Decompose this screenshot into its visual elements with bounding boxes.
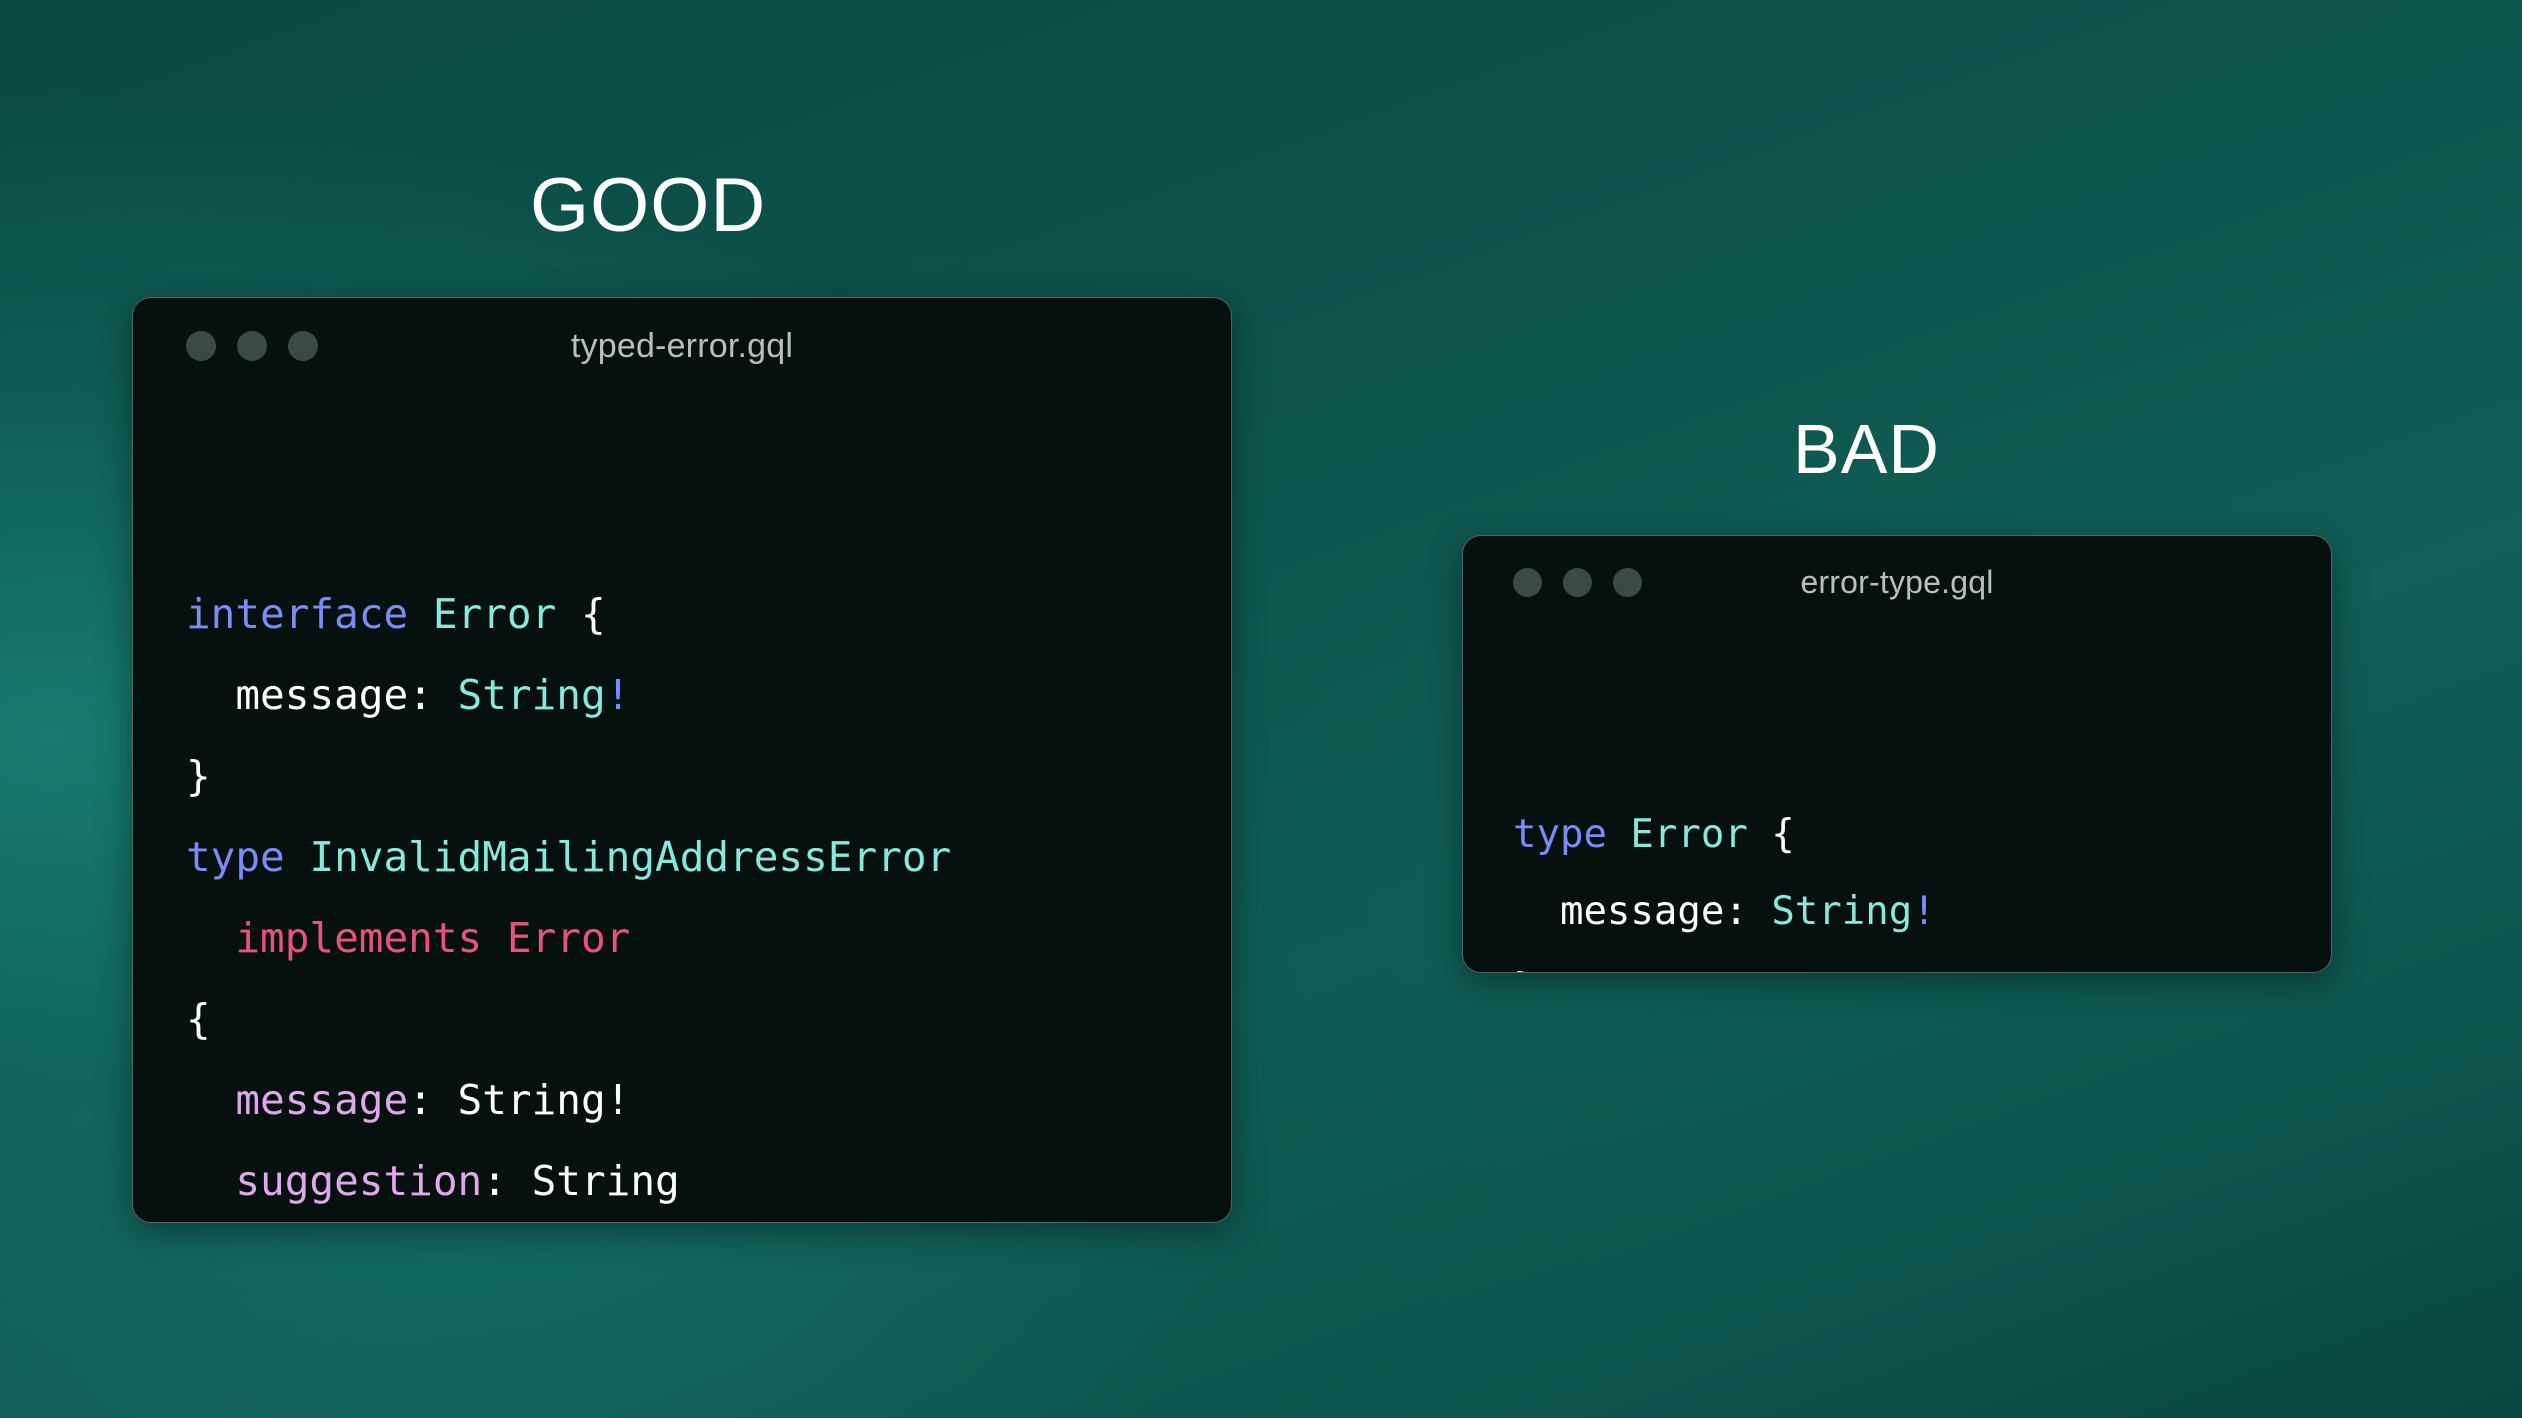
code-line: type InvalidMailingAddressError	[186, 817, 1231, 898]
token-close-brace: }	[186, 752, 211, 800]
token-typename-invalid-mailing-address-error: InvalidMailingAddressError	[309, 833, 951, 881]
close-dot-icon[interactable]	[1513, 568, 1542, 597]
token-non-null-bang: !	[606, 671, 631, 719]
code-block-bad: type Error { message: String!}	[1463, 628, 2331, 973]
token-typename-error: Error	[433, 590, 556, 638]
token-indent	[186, 914, 235, 962]
window-controls-bad	[1463, 568, 1642, 597]
code-line: message: String!	[186, 655, 1231, 736]
code-line: message: String!	[186, 1060, 1231, 1141]
token-colon: :	[408, 671, 457, 719]
token-indent	[1513, 889, 1560, 934]
token-space	[1748, 812, 1771, 857]
token-field-message: message	[1560, 889, 1724, 934]
code-line: }	[186, 1222, 1231, 1223]
token-space	[285, 833, 310, 881]
code-line: }	[186, 736, 1231, 817]
code-line: {	[186, 979, 1231, 1060]
token-non-null-bang: !	[606, 1076, 631, 1124]
token-space	[556, 590, 581, 638]
token-open-brace: {	[186, 995, 211, 1043]
token-keyword-type: type	[186, 833, 285, 881]
token-scalar-string: String	[1771, 889, 1912, 934]
token-open-brace: {	[581, 590, 606, 638]
token-space	[408, 590, 433, 638]
minimize-dot-icon[interactable]	[237, 331, 267, 361]
window-titlebar-good: typed-error.gql	[133, 298, 1231, 394]
token-indent	[186, 1157, 235, 1205]
token-non-null-bang: !	[1912, 889, 1935, 934]
code-block-good: interface Error { message: String!}type …	[133, 394, 1231, 1223]
token-close-brace: }	[1513, 966, 1536, 973]
token-colon: :	[1724, 889, 1771, 934]
code-line: type Error {	[1513, 796, 2331, 873]
code-window-good: typed-error.gql interface Error { messag…	[132, 297, 1232, 1223]
token-keyword-interface: interface	[186, 590, 408, 638]
code-line: }	[1513, 950, 2331, 973]
code-line: message: String!	[1513, 873, 2331, 950]
token-colon: :	[408, 1076, 457, 1124]
token-scalar-string: String	[458, 671, 606, 719]
token-field-suggestion: suggestion	[235, 1157, 482, 1205]
token-indent	[186, 1076, 235, 1124]
token-space	[1607, 812, 1630, 857]
token-scalar-string: String	[458, 1076, 606, 1124]
maximize-dot-icon[interactable]	[1613, 568, 1642, 597]
token-indent	[186, 671, 235, 719]
bad-section-heading: BAD	[1793, 414, 1940, 484]
good-section-heading: GOOD	[530, 168, 766, 244]
code-line: suggestion: String	[186, 1141, 1231, 1222]
code-window-bad: error-type.gql type Error { message: Str…	[1462, 535, 2332, 973]
slide-canvas: GOOD typed-error.gql interface Error { m…	[0, 0, 2522, 1418]
token-scalar-string: String	[532, 1157, 680, 1205]
token-open-brace: {	[1771, 812, 1794, 857]
token-colon: :	[482, 1157, 531, 1205]
window-controls-good	[133, 331, 318, 361]
minimize-dot-icon[interactable]	[1563, 568, 1592, 597]
token-typename-error: Error	[1630, 812, 1747, 857]
close-dot-icon[interactable]	[186, 331, 216, 361]
token-field-message: message	[235, 671, 408, 719]
token-implements-clause: implements Error	[235, 914, 630, 962]
token-keyword-type: type	[1513, 812, 1607, 857]
code-line: implements Error	[186, 898, 1231, 979]
window-titlebar-bad: error-type.gql	[1463, 536, 2331, 628]
maximize-dot-icon[interactable]	[288, 331, 318, 361]
code-line: interface Error {	[186, 574, 1231, 655]
token-field-message: message	[235, 1076, 408, 1124]
